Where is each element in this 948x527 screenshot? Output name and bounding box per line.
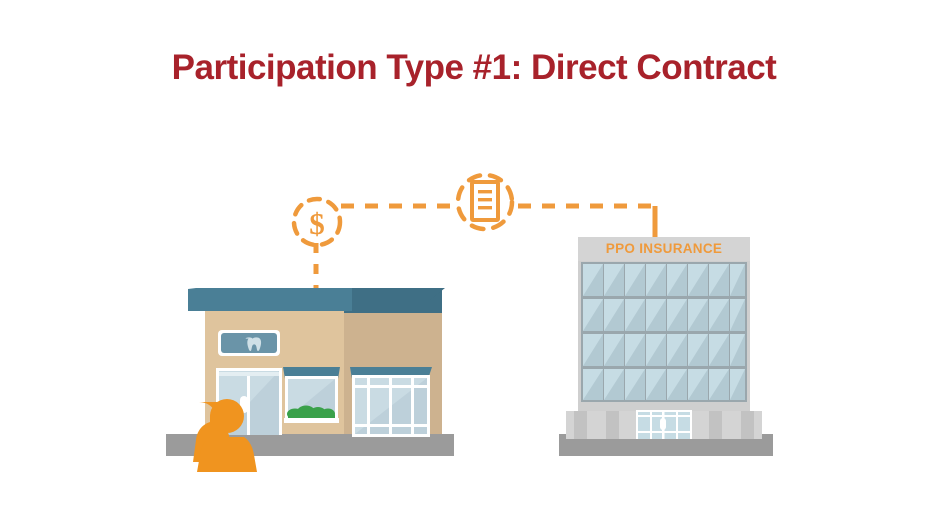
entrance-handle (660, 418, 666, 430)
dollar-sign-glyph: $ (309, 206, 325, 241)
direct-contract-diagram: $ (0, 0, 948, 527)
diagram-illustration: $ (0, 0, 948, 527)
ppo-window-row (583, 299, 745, 331)
dental-office-window-right (350, 367, 432, 437)
ppo-sign-label: PPO INSURANCE (606, 241, 722, 256)
entrance-mullion (676, 412, 678, 439)
dental-office-sign (218, 330, 280, 356)
dental-office-window-middle (283, 367, 340, 423)
ppo-entrance-doors (636, 410, 692, 439)
window-mullion-v (367, 378, 370, 434)
entrance-mullion (650, 412, 652, 439)
window-mullion-v (411, 378, 414, 434)
entrance-kickplate (638, 431, 690, 433)
window-sill-middle (284, 418, 339, 423)
dollar-circle-icon: $ (294, 199, 340, 245)
dental-office-roof-angle (352, 288, 445, 300)
patient-shoulders (197, 437, 257, 472)
dental-office-building (166, 288, 454, 472)
patient-head (210, 399, 244, 433)
slide-canvas: Participation Type #1: Direct Contract $ (0, 0, 948, 527)
ppo-window-row (583, 334, 745, 366)
ppo-window-row (583, 264, 745, 296)
ppo-insurance-building: PPO INSURANCE (559, 237, 773, 456)
document-circle-icon (458, 175, 512, 229)
document-text-line (478, 190, 492, 193)
ppo-window-row (583, 369, 745, 400)
document-text-line (478, 198, 492, 201)
window-mullion-v (389, 378, 392, 434)
document-text-line (478, 206, 492, 209)
dental-office-roof-left (188, 288, 352, 311)
door-top-rail (219, 372, 279, 376)
